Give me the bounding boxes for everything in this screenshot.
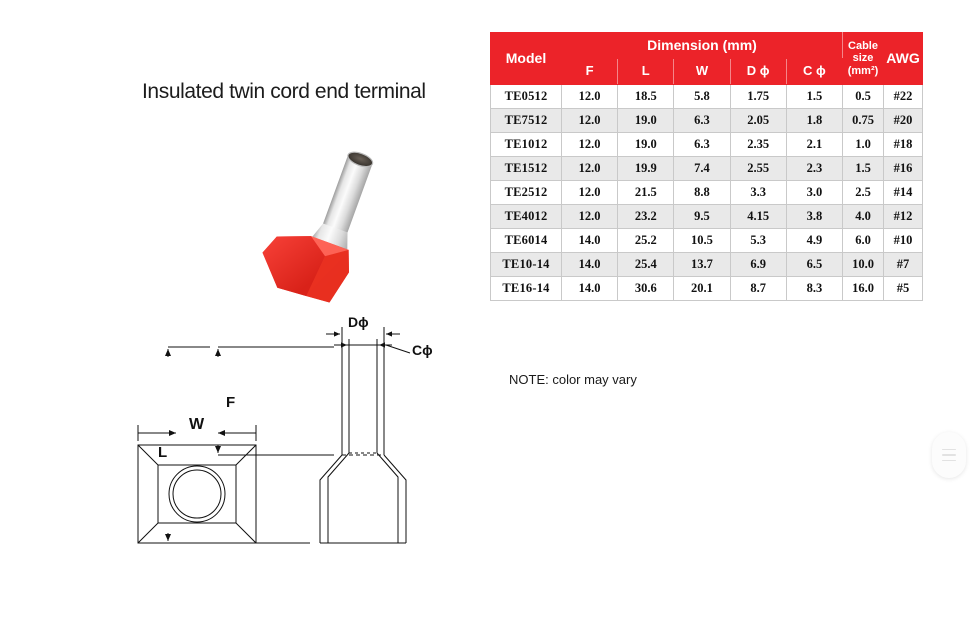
cell-c: 3.8 (786, 205, 842, 229)
cell-c: 2.3 (786, 157, 842, 181)
cell-w: 6.3 (674, 109, 730, 133)
cell-w: 20.1 (674, 277, 730, 301)
table-row: TE251212.021.58.83.33.02.5#14 (491, 181, 923, 205)
header-dimension-group: Dimension (mm) (562, 33, 843, 59)
cell-l: 25.4 (618, 253, 674, 277)
cell-l: 30.6 (618, 277, 674, 301)
cell-cable: 16.0 (843, 277, 884, 301)
specification-table: Model Dimension (mm) Cable size (mm²) AW… (490, 32, 923, 301)
cell-awg: #16 (884, 157, 923, 181)
cell-w: 5.8 (674, 85, 730, 109)
cell-cable: 0.75 (843, 109, 884, 133)
cell-c: 3.0 (786, 181, 842, 205)
cable-size-line-3: (mm²) (843, 65, 883, 77)
cell-l: 19.0 (618, 109, 674, 133)
technical-drawing-svg: F L W Dϕ Cϕ (120, 305, 480, 555)
cell-l: 25.2 (618, 229, 674, 253)
cell-f: 12.0 (562, 157, 618, 181)
dimension-label-w: W (189, 416, 205, 433)
cell-model: TE6014 (491, 229, 562, 253)
cell-model: TE10-14 (491, 253, 562, 277)
header-awg: AWG (884, 33, 923, 85)
table-row: TE151212.019.97.42.552.31.5#16 (491, 157, 923, 181)
technical-drawing: F L W Dϕ Cϕ (120, 305, 480, 555)
cell-awg: #5 (884, 277, 923, 301)
color-note: NOTE: color may vary (509, 372, 637, 387)
cell-d: 4.15 (730, 205, 786, 229)
cell-l: 19.0 (618, 133, 674, 157)
cell-c: 4.9 (786, 229, 842, 253)
cell-awg: #7 (884, 253, 923, 277)
table-row: TE751212.019.06.32.051.80.75#20 (491, 109, 923, 133)
cell-f: 12.0 (562, 181, 618, 205)
terminal-photo-svg (228, 136, 398, 308)
cell-l: 21.5 (618, 181, 674, 205)
header-row-groups: Model Dimension (mm) Cable size (mm²) AW… (491, 33, 923, 59)
cell-model: TE0512 (491, 85, 562, 109)
cell-awg: #18 (884, 133, 923, 157)
cell-w: 6.3 (674, 133, 730, 157)
table-row: TE401212.023.29.54.153.84.0#12 (491, 205, 923, 229)
cell-c: 2.1 (786, 133, 842, 157)
cell-w: 7.4 (674, 157, 730, 181)
cell-awg: #22 (884, 85, 923, 109)
cell-f: 12.0 (562, 133, 618, 157)
cell-cable: 6.0 (843, 229, 884, 253)
cell-w: 9.5 (674, 205, 730, 229)
table-body: TE051212.018.55.81.751.50.5#22TE751212.0… (491, 85, 923, 301)
cell-model: TE4012 (491, 205, 562, 229)
cable-size-line-1: Cable (843, 40, 883, 52)
cell-d: 2.55 (730, 157, 786, 181)
table-row: TE10-1414.025.413.76.96.510.0#7 (491, 253, 923, 277)
menu-lines-icon (942, 460, 956, 462)
cell-model: TE1512 (491, 157, 562, 181)
specification-table-container: Model Dimension (mm) Cable size (mm²) AW… (490, 32, 923, 301)
cell-c: 8.3 (786, 277, 842, 301)
table-row: TE601414.025.210.55.34.96.0#10 (491, 229, 923, 253)
cell-d: 6.9 (730, 253, 786, 277)
cell-d: 3.3 (730, 181, 786, 205)
dimension-label-f: F (226, 394, 235, 411)
cell-model: TE1012 (491, 133, 562, 157)
cell-l: 23.2 (618, 205, 674, 229)
table-row: TE101212.019.06.32.352.11.0#18 (491, 133, 923, 157)
header-c-phi: C ϕ (786, 59, 842, 85)
header-l: L (618, 59, 674, 85)
table-row: TE16-1414.030.620.18.78.316.0#5 (491, 277, 923, 301)
cell-awg: #10 (884, 229, 923, 253)
cell-cable: 0.5 (843, 85, 884, 109)
cell-d: 1.75 (730, 85, 786, 109)
cell-c: 6.5 (786, 253, 842, 277)
cell-model: TE16-14 (491, 277, 562, 301)
cell-l: 19.9 (618, 157, 674, 181)
dimension-label-l: L (158, 444, 167, 461)
cell-c: 1.5 (786, 85, 842, 109)
cell-f: 14.0 (562, 229, 618, 253)
cell-w: 10.5 (674, 229, 730, 253)
cell-d: 8.7 (730, 277, 786, 301)
header-w: W (674, 59, 730, 85)
header-f: F (562, 59, 618, 85)
page-title: Insulated twin cord end terminal (142, 80, 426, 104)
cell-f: 14.0 (562, 277, 618, 301)
cell-c: 1.8 (786, 109, 842, 133)
cell-cable: 2.5 (843, 181, 884, 205)
header-d-phi: D ϕ (730, 59, 786, 85)
cell-model: TE2512 (491, 181, 562, 205)
cell-w: 13.7 (674, 253, 730, 277)
cell-f: 12.0 (562, 109, 618, 133)
cell-cable: 4.0 (843, 205, 884, 229)
cell-awg: #20 (884, 109, 923, 133)
cell-f: 14.0 (562, 253, 618, 277)
dimension-label-d-phi: Dϕ (348, 314, 369, 330)
table-header: Model Dimension (mm) Cable size (mm²) AW… (491, 33, 923, 85)
header-model: Model (491, 33, 562, 85)
cell-f: 12.0 (562, 85, 618, 109)
header-cable-size: Cable size (mm²) (843, 33, 884, 85)
cell-cable: 10.0 (843, 253, 884, 277)
cell-d: 5.3 (730, 229, 786, 253)
table-row: TE051212.018.55.81.751.50.5#22 (491, 85, 923, 109)
floating-menu-button[interactable] (932, 432, 966, 478)
menu-lines-icon (942, 449, 956, 451)
cell-model: TE7512 (491, 109, 562, 133)
cell-w: 8.8 (674, 181, 730, 205)
cell-d: 2.35 (730, 133, 786, 157)
cell-cable: 1.5 (843, 157, 884, 181)
cell-f: 12.0 (562, 205, 618, 229)
cell-l: 18.5 (618, 85, 674, 109)
cell-awg: #12 (884, 205, 923, 229)
cable-size-line-2: size (843, 52, 883, 64)
cell-cable: 1.0 (843, 133, 884, 157)
dimension-label-c-phi: Cϕ (412, 342, 433, 358)
cell-awg: #14 (884, 181, 923, 205)
product-photo (228, 136, 398, 308)
cell-d: 2.05 (730, 109, 786, 133)
menu-lines-icon (942, 454, 956, 456)
